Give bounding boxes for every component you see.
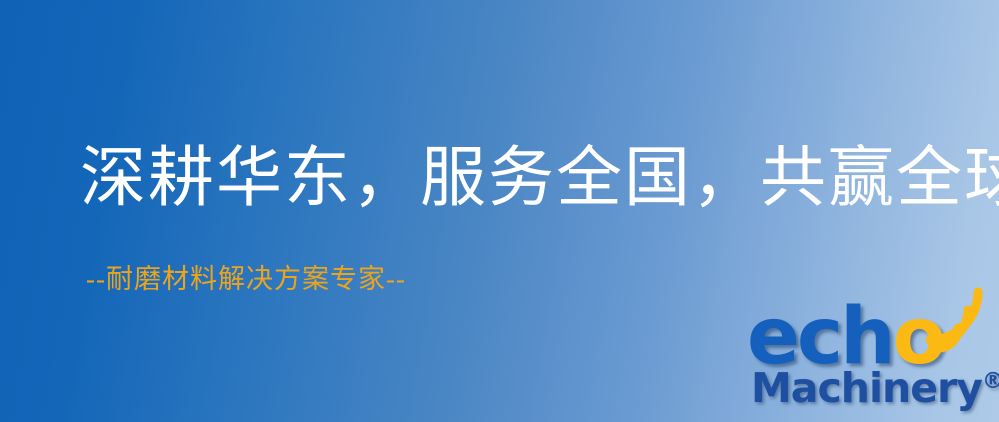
banner-subtitle: --耐磨材料解决方案专家--	[86, 266, 406, 293]
registered-trademark-icon: ®	[982, 369, 999, 394]
logo-tagline: Machinery®	[751, 368, 999, 409]
banner-headline: 深耕华东，服务全国，共赢全球	[80, 146, 999, 212]
promo-banner: 深耕华东，服务全国，共赢全球 --耐磨材料解决方案专家-- echo Machi…	[0, 0, 999, 422]
logo-tagline-word: Machinery	[751, 364, 982, 412]
signal-waves-icon	[928, 292, 998, 354]
company-logo[interactable]: echo Machinery®	[745, 296, 999, 422]
